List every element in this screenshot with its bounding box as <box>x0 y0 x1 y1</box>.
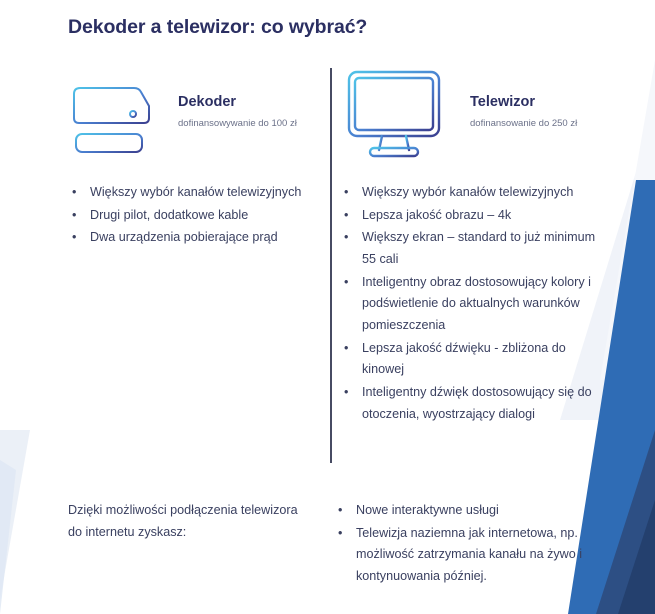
list-item: Lepsza jakość obrazu – 4k <box>340 205 608 227</box>
list-item: Większy wybór kanałów telewizyjnych <box>68 182 318 204</box>
list-item: Większy wybór kanałów telewizyjnych <box>340 182 608 204</box>
deco-wedge-left-2 <box>0 460 16 614</box>
list-item: Inteligentny obraz dostosowujący kolory … <box>340 272 608 337</box>
decoder-benefits-list: Większy wybór kanałów telewizyjnych Drug… <box>68 182 318 250</box>
column-left-subtitle: dofinansowywanie do 100 zł <box>178 118 297 129</box>
list-item: Dwa urządzenia pobierające prąd <box>68 227 318 249</box>
column-divider <box>330 68 332 463</box>
column-header-right-text: Telewizor dofinansowanie do 250 zł <box>470 62 577 129</box>
list-item: Nowe interaktywne usługi <box>334 500 606 522</box>
television-benefits-list: Większy wybór kanałów telewizyjnych Leps… <box>340 182 608 426</box>
column-right-name: Telewizor <box>470 94 577 111</box>
television-icon <box>344 62 444 167</box>
list-item: Większy ekran – standard to już minimum … <box>340 227 608 270</box>
column-header-left-text: Dekoder dofinansowywanie do 100 zł <box>178 66 297 129</box>
column-left-name: Dekoder <box>178 94 297 111</box>
list-item: Drugi pilot, dodatkowe kable <box>68 205 318 227</box>
column-header-left: Dekoder dofinansowywanie do 100 zł <box>64 66 297 167</box>
list-item: Inteligentny dźwięk dostosowujący się do… <box>340 382 608 425</box>
list-item: Telewizja naziemna jak internetowa, np. … <box>334 523 606 588</box>
internet-note: Dzięki możliwości podłączenia telewizora… <box>68 500 314 543</box>
decoder-icon <box>64 66 160 167</box>
column-right-subtitle: dofinansowanie do 250 zł <box>470 118 577 129</box>
column-header-right: Telewizor dofinansowanie do 250 zł <box>344 62 577 167</box>
list-item: Lepsza jakość dźwięku - zbliżona do kino… <box>340 338 608 381</box>
page-title: Dekoder a telewizor: co wybrać? <box>68 16 367 39</box>
slide-root: Dekoder a telewizor: co wybrać? <box>0 0 655 614</box>
internet-benefits-list: Nowe interaktywne usługi Telewizja nazie… <box>334 500 606 589</box>
